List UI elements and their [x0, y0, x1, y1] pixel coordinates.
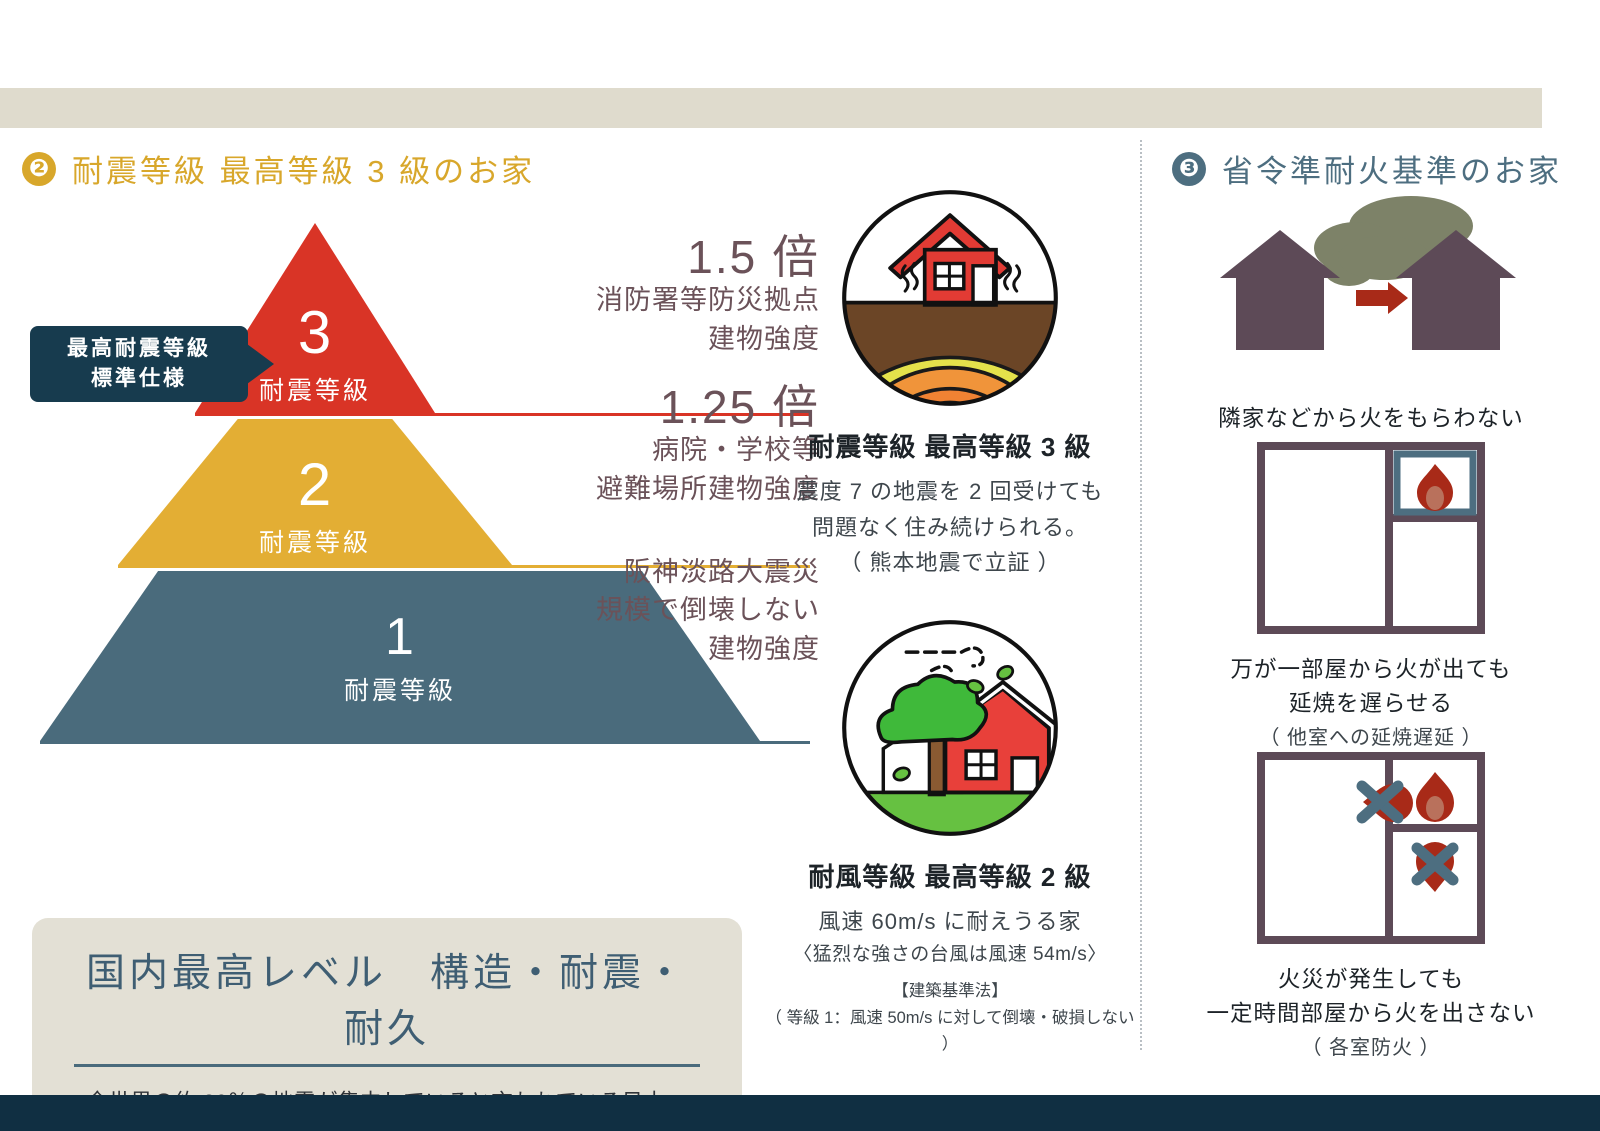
section-3-number-badge: ❸	[1172, 152, 1206, 186]
wind-caption-line-1: 風速 60m/s に耐えうる家	[760, 904, 1140, 940]
earthquake-house-icon	[835, 183, 1065, 413]
fire-block-3: 火災が発生しても 一定時間部屋から火を出さない （ 各室防火 ）	[1142, 750, 1600, 1063]
earthquake-block: 耐震等級 最高等級 3 級 震度 7 の地震を 2 回受けても 問題なく住み続け…	[760, 183, 1140, 581]
earthquake-caption-line-3: （ 熊本地震で立証 ）	[760, 545, 1140, 581]
fire-block-3-caption-line-2: 一定時間部屋から火を出さない	[1142, 997, 1600, 1031]
wind-house-tree-icon	[835, 613, 1065, 843]
fire-block-2-caption-line-2: 延焼を遅らせる	[1142, 687, 1600, 721]
section-2-title: 耐震等級 最高等級 3 級のお家	[72, 146, 535, 191]
card-heading: 国内最高レベル 構造・耐震・耐久	[74, 942, 700, 1067]
wind-block: 耐風等級 最高等級 2 級 風速 60m/s に耐えうる家 〈猛烈な強さの台風は…	[760, 613, 1140, 1058]
earthquake-caption-title: 耐震等級 最高等級 3 級	[760, 427, 1140, 464]
infographic-page: ❷ 耐震等級 最高等級 3 級のお家 3 耐震等級 1.5 倍 消防署等防災拠点…	[0, 0, 1600, 1131]
section-2-number-badge: ❷	[22, 152, 56, 186]
pyramid-level-2-shape	[118, 419, 512, 565]
highest-grade-badge: 最高耐震等級 標準仕様	[30, 326, 248, 402]
fire-block-2-caption-line-1: 万が一部屋から火が出ても	[1142, 653, 1600, 687]
fire-block-1-caption: 隣家などから火をもらわない	[1142, 402, 1600, 436]
fire-block-1: 隣家などから火をもらわない （ 外部からの延焼防止 ）	[1142, 190, 1600, 468]
earthquake-caption-line-2: 問題なく住み続けられる。	[760, 510, 1140, 546]
fire-block-2-sub: （ 他室への延焼遅延 ）	[1142, 723, 1600, 753]
fire-block-3-sub: （ 各室防火 ）	[1142, 1033, 1600, 1063]
badge-line-1: 最高耐震等級	[67, 334, 211, 364]
two-houses-smoke-arrow-icon	[1142, 190, 1600, 390]
section-3-title: 省令準耐火基準のお家	[1222, 146, 1562, 191]
bottom-decorative-band	[0, 1095, 1600, 1131]
wind-caption-title: 耐風等級 最高等級 2 級	[760, 857, 1140, 894]
wind-caption-law-label: 【建築基準法】	[760, 978, 1140, 1005]
seismic-grade-pyramid: 3 耐震等級 1.5 倍 消防署等防災拠点 建物強度 2 耐震等級 1.25 倍…	[40, 223, 770, 848]
pyramid-level-1-rule	[40, 741, 810, 744]
badge-line-2: 標準仕様	[91, 364, 187, 394]
floorplan-flame-room-icon	[1142, 440, 1600, 641]
fire-block-2: 万が一部屋から火が出ても 延焼を遅らせる （ 他室への延焼遅延 ）	[1142, 440, 1600, 753]
top-decorative-band	[0, 88, 1542, 128]
section-3-column: ❸ 省令準耐火基準のお家	[1142, 128, 1600, 1058]
section-2-column: ❷ 耐震等級 最高等級 3 級のお家 3 耐震等級 1.5 倍 消防署等防災拠点…	[0, 128, 1140, 1058]
floorplan-flame-blocked-icon	[1142, 750, 1600, 951]
section-2-heading: ❷ 耐震等級 最高等級 3 級のお家	[22, 146, 535, 191]
wind-caption-law-detail: （ 等級 1：風速 50m/s に対して倒壊・破損しない ）	[760, 1005, 1140, 1058]
fire-block-3-caption-line-1: 火災が発生しても	[1142, 963, 1600, 997]
wind-caption-line-2: 〈猛烈な強さの台風は風速 54m/s〉	[760, 940, 1140, 970]
centre-illustration-column: 耐震等級 最高等級 3 級 震度 7 の地震を 2 回受けても 問題なく住み続け…	[760, 183, 1140, 1131]
earthquake-caption-line-1: 震度 7 の地震を 2 回受けても	[760, 474, 1140, 510]
section-3-heading: ❸ 省令準耐火基準のお家	[1172, 146, 1562, 191]
